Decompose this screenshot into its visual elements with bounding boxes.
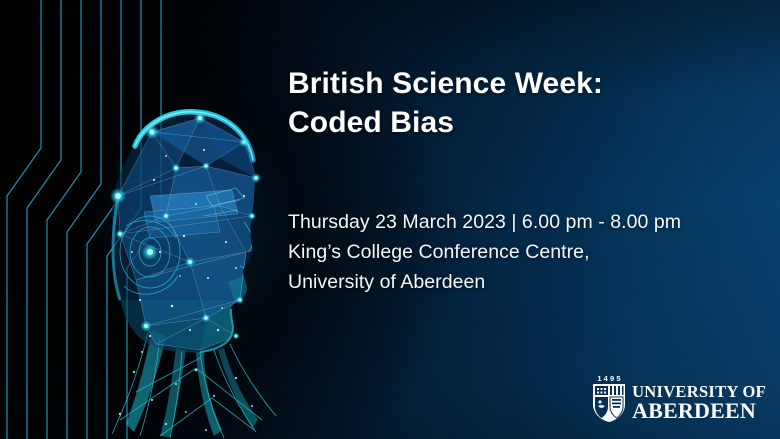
university-logo: 1495 (592, 374, 766, 423)
shield-crest-icon (592, 383, 626, 423)
page-title: British Science Week: Coded Bias (288, 64, 603, 142)
wireframe-head-artwork (0, 0, 290, 439)
crest-block: 1495 (592, 374, 626, 423)
event-datetime: Thursday 23 March 2023 | 6.00 pm - 8.00 … (288, 207, 681, 237)
event-venue: King’s College Conference Centre, (288, 237, 681, 267)
event-institution: University of Aberdeen (288, 267, 681, 297)
event-details: Thursday 23 March 2023 | 6.00 pm - 8.00 … (288, 207, 681, 297)
logo-wordmark: UNIVERSITY OF ABERDEEN (632, 383, 766, 423)
founded-year: 1495 (595, 374, 623, 383)
poster: British Science Week: Coded Bias Thursda… (0, 0, 780, 439)
logo-line-aberdeen: ABERDEEN (632, 400, 766, 422)
